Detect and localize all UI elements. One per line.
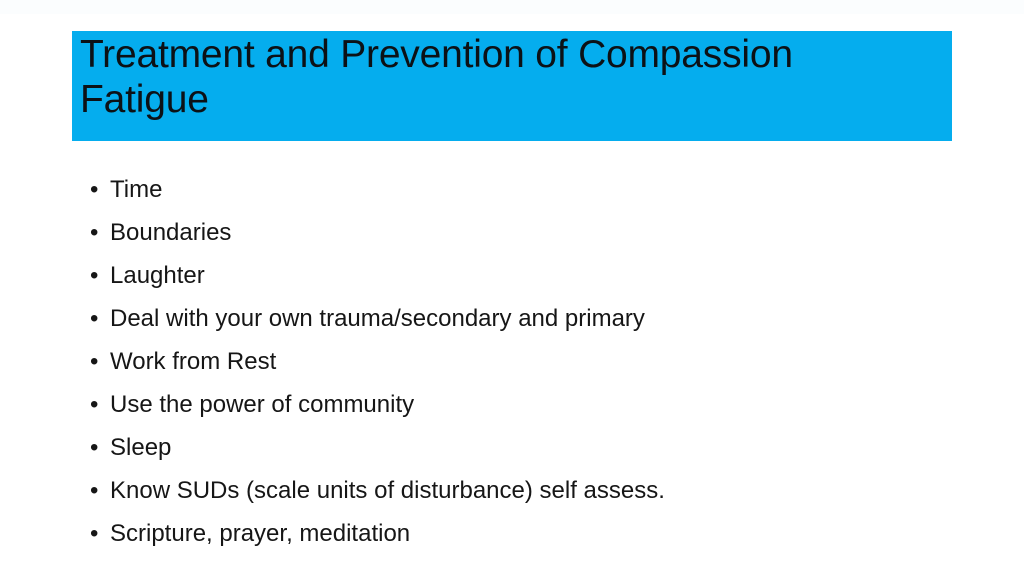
bullet-point-icon: • (90, 340, 98, 383)
bullet-point-icon: • (90, 168, 98, 211)
list-item-label: Deal with your own trauma/secondary and … (110, 305, 645, 332)
title-banner: Treatment and Prevention of Compassion F… (72, 31, 952, 141)
list-item-label: Scripture, prayer, meditation (110, 520, 410, 547)
slide-top-edge-tint (0, 0, 1024, 14)
bullet-point-icon: • (90, 297, 98, 340)
list-item-label: Sleep (110, 434, 171, 461)
slide-canvas: Treatment and Prevention of Compassion F… (0, 0, 1024, 576)
bullet-point-icon: • (90, 426, 98, 469)
list-item: • Time (88, 168, 968, 211)
list-item: • Sleep (88, 426, 968, 469)
bullet-point-icon: • (90, 383, 98, 426)
bullet-point-icon: • (90, 469, 98, 512)
list-item: • Boundaries (88, 211, 968, 254)
list-item-label: Know SUDs (scale units of disturbance) s… (110, 477, 665, 504)
bullet-point-icon: • (90, 211, 98, 254)
list-item: • Laughter (88, 254, 968, 297)
page-title: Treatment and Prevention of Compassion F… (80, 32, 920, 122)
bullet-list: • Time • Boundaries • Laughter • Deal wi… (88, 168, 968, 555)
list-item-label: Time (110, 176, 162, 203)
list-item-label: Work from Rest (110, 348, 276, 375)
bullet-point-icon: • (90, 254, 98, 297)
list-item-label: Boundaries (110, 219, 231, 246)
bullet-point-icon: • (90, 512, 98, 555)
list-item: • Deal with your own trauma/secondary an… (88, 297, 968, 340)
list-item-label: Use the power of community (110, 391, 414, 418)
list-item: • Scripture, prayer, meditation (88, 512, 968, 555)
list-item: • Work from Rest (88, 340, 968, 383)
list-item-label: Laughter (110, 262, 205, 289)
list-item: • Know SUDs (scale units of disturbance)… (88, 469, 968, 512)
list-item: • Use the power of community (88, 383, 968, 426)
